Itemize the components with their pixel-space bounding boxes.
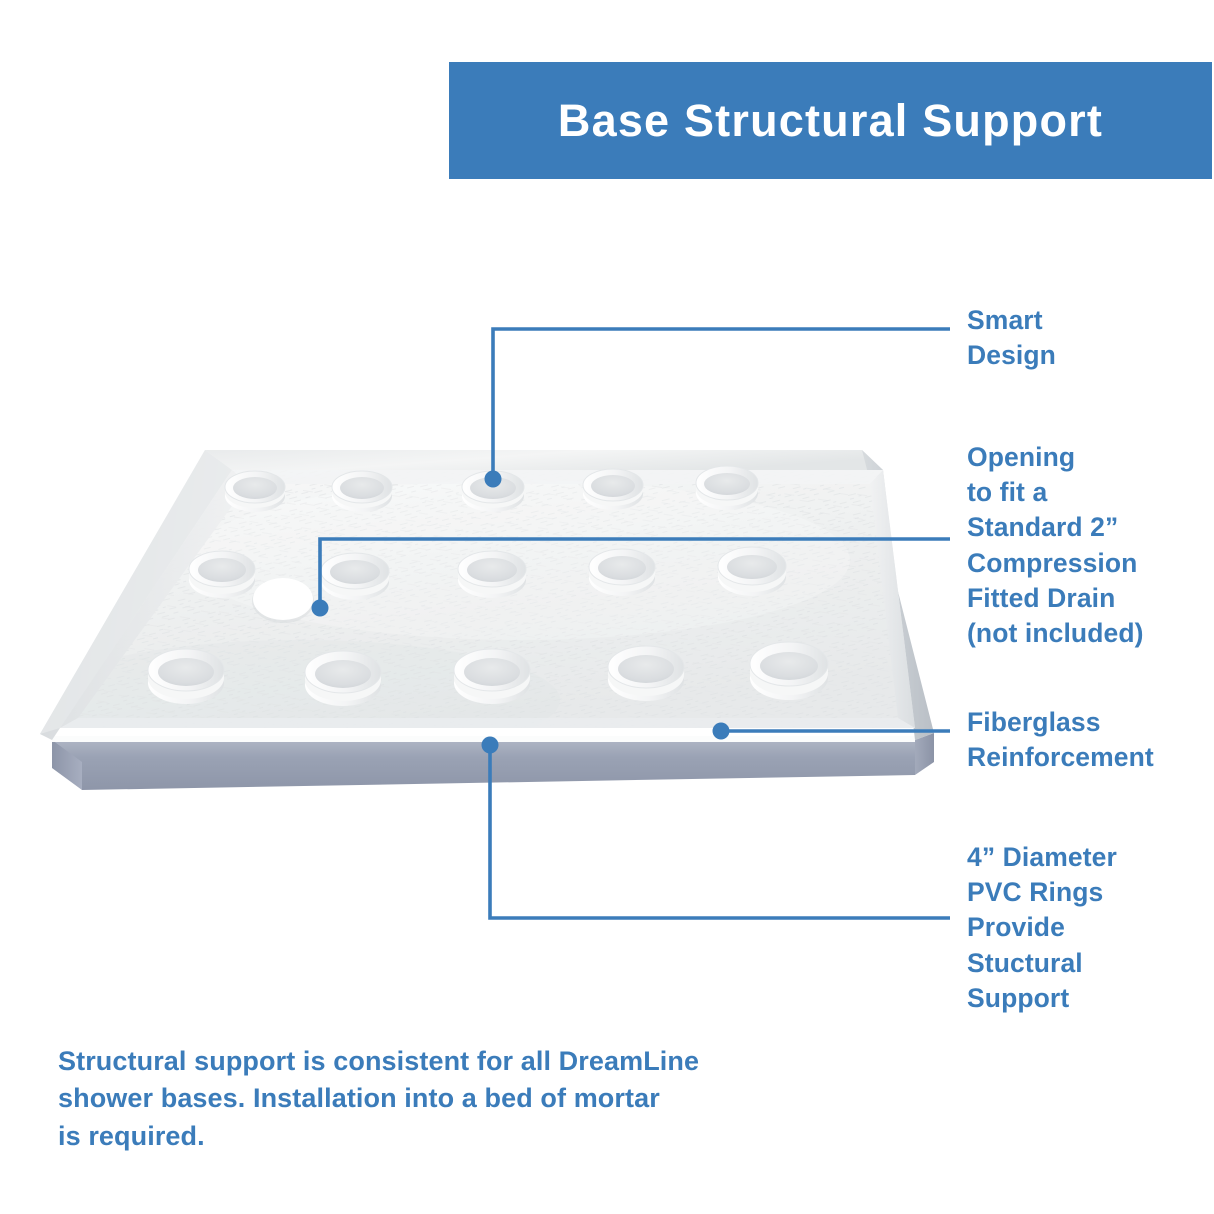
callout-line: Design: [967, 338, 1056, 373]
callout-drain-opening: Opening to fit a Standard 2” Compression…: [967, 440, 1144, 651]
callout-line: Compression: [967, 546, 1144, 581]
header-banner: Base Structural Support: [449, 62, 1212, 179]
leader-dot-pvc-rings: [482, 737, 499, 754]
callout-line: Fiberglass: [967, 705, 1154, 740]
callout-pvc-rings: 4” Diameter PVC Rings Provide Stuctural …: [967, 840, 1117, 1016]
callout-line: Opening: [967, 440, 1144, 475]
caption-line: Structural support is consistent for all…: [58, 1043, 818, 1080]
callout-line: Support: [967, 981, 1117, 1016]
callout-line: Smart: [967, 303, 1056, 338]
callout-line: Provide: [967, 910, 1117, 945]
drain-opening: [252, 578, 314, 623]
callout-fiberglass-reinforcement: Fiberglass Reinforcement: [967, 705, 1154, 775]
caption-line: shower bases. Installation into a bed of…: [58, 1080, 818, 1117]
leader-dot-drain-opening: [312, 600, 329, 617]
caption-line: is required.: [58, 1118, 818, 1155]
callout-line: 4” Diameter: [967, 840, 1117, 875]
footer-caption: Structural support is consistent for all…: [58, 1043, 818, 1155]
callout-line: PVC Rings: [967, 875, 1117, 910]
callout-smart-design: Smart Design: [967, 303, 1056, 373]
diagram-canvas: Base Structural Support Smart Design Ope…: [0, 0, 1214, 1214]
callout-line: Fitted Drain: [967, 581, 1144, 616]
leader-dot-smart-design: [485, 471, 502, 488]
callout-line: Standard 2”: [967, 510, 1144, 545]
callout-line: Reinforcement: [967, 740, 1154, 775]
callout-line: (not included): [967, 616, 1144, 651]
leader-dot-fiberglass: [713, 723, 730, 740]
callout-line: to fit a: [967, 475, 1144, 510]
page-title: Base Structural Support: [558, 95, 1103, 147]
callout-line: Stuctural: [967, 946, 1117, 981]
